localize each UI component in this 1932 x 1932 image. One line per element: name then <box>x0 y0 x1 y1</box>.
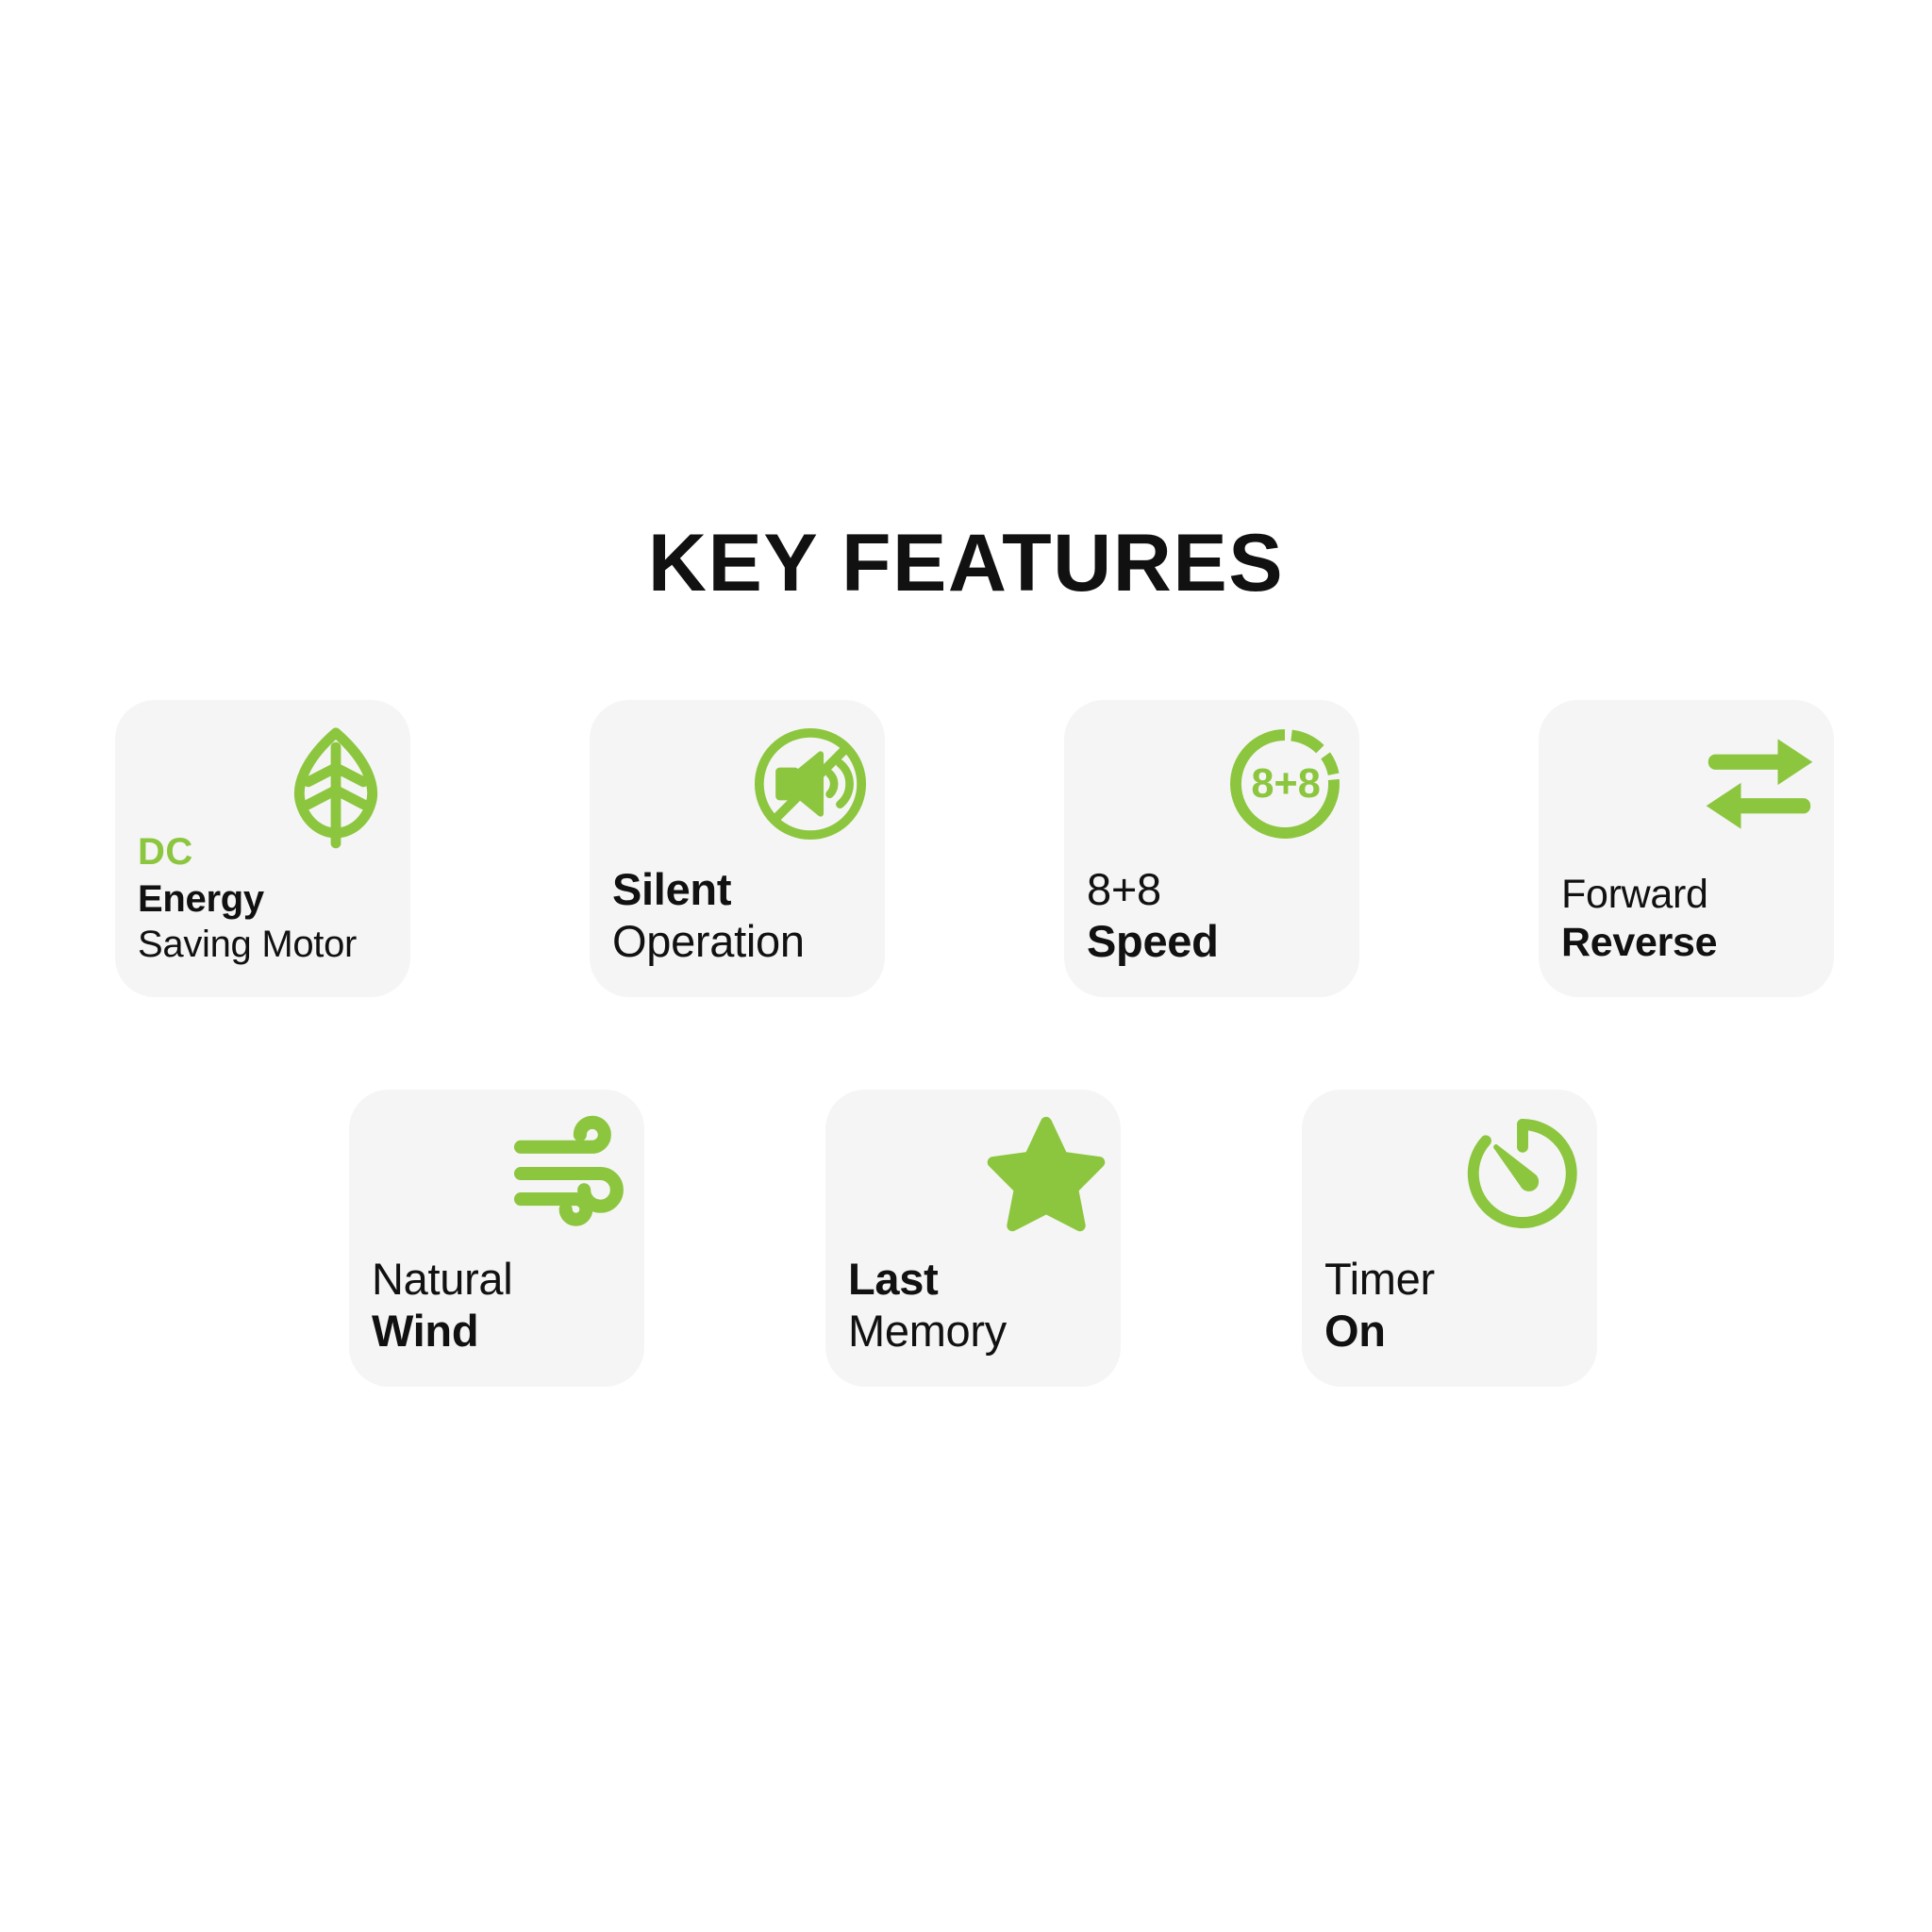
feature-card-natural-wind[interactable]: Natural Wind <box>349 1090 644 1387</box>
timer-icon <box>1461 1112 1584 1235</box>
feature-card-text: Last Memory <box>848 1257 1111 1353</box>
leaf-icon <box>275 723 397 845</box>
feature-line-2: Speed <box>1087 919 1350 963</box>
feature-card-text: Forward Reverse <box>1561 874 1824 963</box>
feature-line-1: DC <box>138 833 401 871</box>
feature-card-timer-on[interactable]: Timer On <box>1302 1090 1597 1387</box>
feature-card-text: Natural Wind <box>372 1257 635 1353</box>
feature-line-2: Memory <box>848 1308 1111 1353</box>
feature-line-1: Last <box>848 1257 1111 1301</box>
mute-speaker-icon <box>749 723 872 845</box>
feature-line-1: Forward <box>1561 874 1824 915</box>
feature-line-1: 8+8 <box>1087 867 1350 911</box>
feature-line-1: Timer <box>1324 1257 1588 1301</box>
wind-icon <box>508 1112 631 1235</box>
star-icon <box>985 1112 1108 1235</box>
feature-card-text: 8+8 Speed <box>1087 867 1350 963</box>
feature-line-2: Wind <box>372 1308 635 1353</box>
feature-line-3: Saving Motor <box>138 925 401 963</box>
feature-line-2: On <box>1324 1308 1588 1353</box>
feature-card-silent-operation[interactable]: Silent Operation <box>590 700 885 997</box>
feature-card-last-memory[interactable]: Last Memory <box>825 1090 1121 1387</box>
page-title: KEY FEATURES <box>0 519 1932 608</box>
feature-card-speed[interactable]: 8+8 8+8 Speed <box>1064 700 1359 997</box>
features-row-2: Natural Wind Last Memory <box>349 1090 1594 1387</box>
feature-line-1: Natural <box>372 1257 635 1301</box>
feature-line-2: Energy <box>138 880 401 918</box>
speed-ring-icon: 8+8 <box>1224 723 1346 845</box>
feature-card-forward-reverse[interactable]: Forward Reverse <box>1539 700 1834 997</box>
feature-line-1: Silent <box>612 867 875 911</box>
two-way-arrows-icon <box>1698 723 1821 845</box>
feature-card-dc-energy-saving-motor[interactable]: DC Energy Saving Motor <box>115 700 410 997</box>
feature-card-text: Timer On <box>1324 1257 1588 1353</box>
feature-card-text: Silent Operation <box>612 867 875 963</box>
feature-line-2: Reverse <box>1561 923 1824 963</box>
key-features-page: KEY FEATURES DC Energy <box>0 0 1932 1932</box>
features-row-1: DC Energy Saving Motor Silent Operation <box>115 700 1832 997</box>
feature-line-2: Operation <box>612 919 875 963</box>
speed-ring-label: 8+8 <box>1251 761 1321 807</box>
feature-card-text: DC Energy Saving Motor <box>138 833 401 963</box>
